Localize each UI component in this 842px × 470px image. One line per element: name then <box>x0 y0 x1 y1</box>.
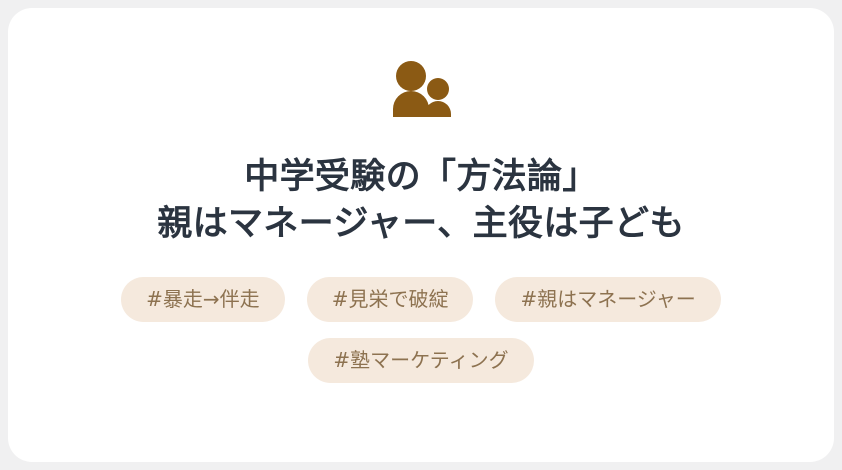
page-title: 中学受験の「方法論」 親はマネージャー、主役は子ども <box>8 154 834 247</box>
tag-chip[interactable]: #塾マーケティング <box>308 338 533 383</box>
people-family-icon <box>390 60 452 118</box>
tag-chip[interactable]: #暴走→伴走 <box>121 277 285 322</box>
title-line-1: 中学受験の「方法論」 <box>32 154 810 201</box>
tag-list: #暴走→伴走 #見栄で破綻 #親はマネージャー #塾マーケティング <box>8 277 834 383</box>
title-line-2: 親はマネージャー、主役は子ども <box>32 201 810 248</box>
tag-chip[interactable]: #見栄で破綻 <box>307 277 474 322</box>
tag-chip[interactable]: #親はマネージャー <box>495 277 720 322</box>
title-card: 中学受験の「方法論」 親はマネージャー、主役は子ども #暴走→伴走 #見栄で破綻… <box>8 8 834 462</box>
slide-root: 中学受験の「方法論」 親はマネージャー、主役は子ども #暴走→伴走 #見栄で破綻… <box>0 0 842 470</box>
